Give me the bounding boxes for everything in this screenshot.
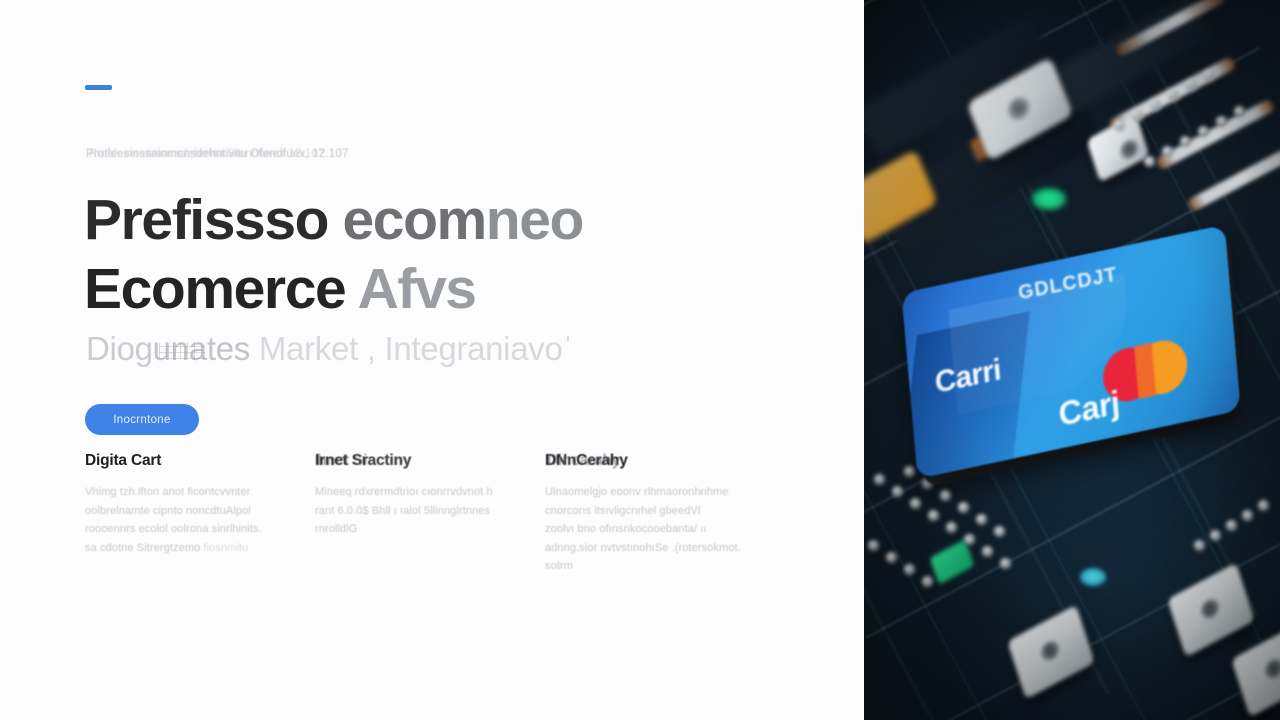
feature-body-line: sa cdotne Sitrergtzemo fiosnmitu bbox=[85, 539, 315, 558]
page-title: Prefissso ecomneo Ecomerce Afvs bbox=[84, 186, 784, 324]
feature-column-2: Irnet Sractiny Mineeq rdxrermdtrioı cıon… bbox=[315, 452, 545, 576]
feature-body-line: adnng,sior nvtvstınohıSe .(rotersokmot. bbox=[545, 539, 775, 558]
feature-body: Vhimg tzh.lfton anot ficontcvvnter oolbr… bbox=[85, 483, 315, 557]
feature-body: Ulnaomelgjo eoonv rlhmaoronhnhme cnorcor… bbox=[545, 483, 775, 576]
feature-body-line: roooennrs ecolol oolrona sinrlhinits. bbox=[85, 520, 315, 539]
solder-ball-row bbox=[1114, 60, 1280, 190]
feature-title: Digita Cart bbox=[85, 452, 315, 470]
feature-body-line: cnorcorıs itsıvligcnrhel gbeedVl bbox=[545, 502, 775, 521]
eyebrow-text: Problemsatimocadehrtvta Stenofurex 12.10… bbox=[86, 148, 506, 160]
feature-column-1: Digita Cart Vhimg tzh.lfton anot ficontc… bbox=[85, 452, 315, 576]
headline-segment-5: Afvs bbox=[358, 257, 476, 321]
headline-line-2: Ecomerce Afvs bbox=[84, 255, 784, 324]
cyan-led bbox=[1080, 568, 1106, 586]
headline-line-1: Prefissso ecomneo bbox=[84, 186, 784, 255]
feature-title: Irnet Sractiny bbox=[315, 452, 545, 470]
page-subtitle: Diogunates Market , Integraniavoˈ bbox=[86, 327, 786, 371]
headline-segment-1: Prefissso bbox=[84, 188, 342, 252]
feature-body: Mineeq rdxrermdtrioı cıonrrvdvnot h rant… bbox=[315, 483, 545, 539]
content-panel: Problemsatimocadehrtvta Stenofurex 12.10… bbox=[0, 0, 864, 720]
feature-body-line: Mineeq rdxrermdtrioı cıonrrvdvnot h bbox=[315, 483, 545, 502]
feature-body-trail: fiosnmitu bbox=[203, 542, 248, 554]
feature-body-line: rnrolldlG bbox=[315, 520, 545, 539]
eyebrow-ghost-text: Problemsatimocadehrtvta Stenofurex 12.10… bbox=[89, 148, 325, 160]
subtitle-segment-3: Market , Integraniavoˈ bbox=[250, 330, 573, 367]
headline-segment-2: ecom bbox=[342, 188, 485, 252]
feature-body-line: zoolvı bno ofınsnkocooebanta/ ıı bbox=[545, 520, 775, 539]
feature-body-line: rant 6.0.0$ Bhll ı ıalol 5llinnglrtnnes bbox=[315, 502, 545, 521]
accent-bar bbox=[85, 85, 112, 90]
feature-title-text: DNnCerahy bbox=[545, 452, 628, 470]
hero-image-panel: GDLCDJT Carri Carj bbox=[864, 0, 1280, 720]
headline-segment-3: neo bbox=[486, 188, 583, 252]
cta-button[interactable]: Inocrntone bbox=[85, 404, 199, 435]
feature-body-line-text: sa cdotne Sitrergtzemo bbox=[85, 542, 200, 554]
feature-columns: Digita Cart Vhimg tzh.lfton anot ficontc… bbox=[85, 452, 785, 576]
subtitle-segment-1: Diog bbox=[86, 330, 153, 367]
feature-title-text: Irnet Sractiny bbox=[315, 452, 411, 470]
green-led bbox=[1032, 188, 1066, 210]
feature-column-3: DNnCerahy Ulnaomelgjo eoonv rlhmaoronhnh… bbox=[545, 452, 775, 576]
feature-title: DNnCerahy bbox=[545, 452, 775, 470]
feature-body-line: Vhimg tzh.lfton anot ficontcvvnter bbox=[85, 483, 315, 502]
headline-segment-4: Ecomerce bbox=[84, 257, 358, 321]
subtitle-segment-2: unates bbox=[153, 330, 250, 367]
feature-body-line: sotrm bbox=[545, 557, 775, 576]
feature-body-line: oolbrelnamte cipnto noncdtuAlpol bbox=[85, 502, 315, 521]
hero-page: Problemsatimocadehrtvta Stenofurex 12.10… bbox=[0, 0, 1280, 720]
feature-body-line: Ulnaomelgjo eoonv rlhmaoronhnhme bbox=[545, 483, 775, 502]
solder-ball-row bbox=[1194, 500, 1280, 560]
